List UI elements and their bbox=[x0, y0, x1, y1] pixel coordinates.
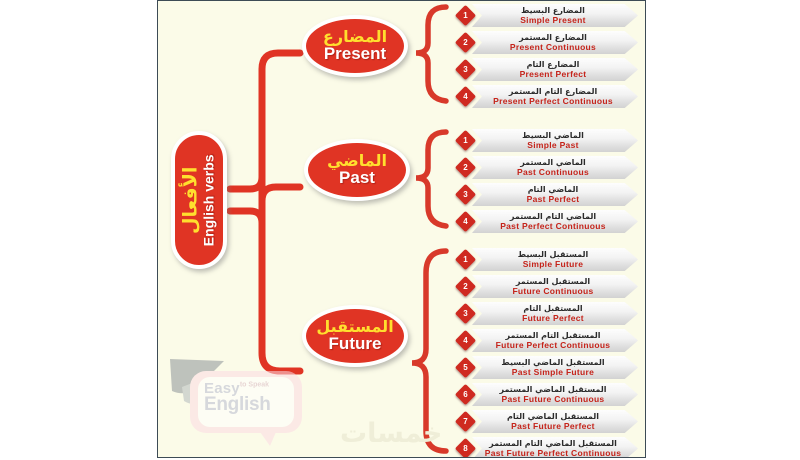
tense-row[interactable]: 7المستقبل الماضي التامPast Future Perfec… bbox=[458, 410, 638, 435]
tense-arabic-label: المستقبل المستمر bbox=[516, 278, 590, 286]
tense-arabic-label: الماضي التام bbox=[528, 186, 579, 194]
watermark-line-1: Easyto Speak bbox=[204, 381, 296, 397]
row-number-label: 3 bbox=[458, 187, 473, 202]
tense-row-labels: المضارع التامPresent Perfect bbox=[474, 59, 632, 81]
tense-row-labels: الماضي التامPast Perfect bbox=[474, 184, 632, 206]
tense-row-labels: المستقبل الماضي التامPast Future Perfect bbox=[474, 411, 632, 433]
tense-arabic-label: المضارع التام المستمر bbox=[509, 88, 597, 96]
tense-english-label: Past Future Perfect Continuous bbox=[485, 449, 622, 458]
tense-row[interactable]: 8المستقبل الماضي التام المستمرPast Futur… bbox=[458, 437, 638, 458]
tense-arabic-label: الماضي البسيط bbox=[522, 132, 584, 140]
row-number-label: 7 bbox=[458, 414, 473, 429]
row-number-badge: 8 bbox=[455, 438, 476, 458]
root-node-english-verbs[interactable]: الأفعال English verbs bbox=[171, 131, 227, 269]
root-node-rotated-text: الأفعال English verbs bbox=[182, 154, 217, 246]
tense-row-labels: الماضي البسيطSimple Past bbox=[474, 130, 632, 152]
tense-arabic-label: الماضي المستمر bbox=[520, 159, 586, 167]
row-number-badge: 3 bbox=[455, 303, 476, 324]
branch-node-past-arabic: الماضي bbox=[327, 153, 387, 169]
tense-row[interactable]: 5المستقبل الماضي البسيطPast Simple Futur… bbox=[458, 356, 638, 381]
tense-row-labels: المضارع البسيطSimple Present bbox=[474, 5, 632, 27]
tense-arabic-label: المستقبل الماضي التام bbox=[507, 413, 599, 421]
branch-node-present-arabic: المضارع bbox=[323, 29, 387, 45]
row-number-badge: 2 bbox=[455, 32, 476, 53]
easy-to-speak-english-watermark: Easyto Speak English bbox=[168, 357, 308, 453]
tense-english-label: Past Continuous bbox=[517, 168, 589, 177]
tense-english-label: Future Continuous bbox=[512, 287, 593, 296]
watermark-english-label: English bbox=[204, 395, 296, 414]
tense-english-label: Past Simple Future bbox=[512, 368, 594, 377]
row-number-label: 4 bbox=[458, 214, 473, 229]
tense-row-labels: المضارع التام المستمرPresent Perfect Con… bbox=[474, 86, 632, 108]
tense-english-label: Simple Future bbox=[523, 260, 584, 269]
branch-node-future-english: Future bbox=[329, 335, 382, 352]
tense-group-past: 1الماضي البسيطSimple Past2الماضي المستمر… bbox=[458, 129, 638, 237]
row-number-badge: 2 bbox=[455, 276, 476, 297]
tense-english-label: Present Perfect bbox=[520, 70, 587, 79]
tense-arabic-label: المضارع البسيط bbox=[521, 7, 585, 15]
row-number-label: 6 bbox=[458, 387, 473, 402]
tense-english-label: Simple Present bbox=[520, 16, 586, 25]
tense-english-label: Future Perfect Continuous bbox=[496, 341, 611, 350]
tense-row[interactable]: 3المضارع التامPresent Perfect bbox=[458, 58, 638, 83]
tense-row-labels: الماضي المستمرPast Continuous bbox=[474, 157, 632, 179]
tense-row[interactable]: 2المضارع المستمرPresent Continuous bbox=[458, 31, 638, 56]
tense-english-label: Past Future Continuous bbox=[502, 395, 605, 404]
tense-row-labels: المستقبل الماضي المستمرPast Future Conti… bbox=[474, 384, 632, 406]
row-number-label: 5 bbox=[458, 360, 473, 375]
tense-row[interactable]: 3المستقبل التامFuture Perfect bbox=[458, 302, 638, 327]
tense-arabic-label: المستقبل الماضي التام المستمر bbox=[489, 440, 617, 448]
swoosh-icon bbox=[168, 357, 244, 409]
row-number-label: 1 bbox=[458, 8, 473, 23]
tense-row[interactable]: 2المستقبل المستمرFuture Continuous bbox=[458, 275, 638, 300]
tense-english-label: Present Continuous bbox=[510, 43, 596, 52]
row-number-label: 4 bbox=[458, 333, 473, 348]
tense-row[interactable]: 6المستقبل الماضي المستمرPast Future Cont… bbox=[458, 383, 638, 408]
row-number-label: 1 bbox=[458, 133, 473, 148]
tense-row-labels: المستقبل الماضي التام المستمرPast Future… bbox=[474, 438, 632, 458]
tense-row-labels: المستقبل التام المستمرFuture Perfect Con… bbox=[474, 330, 632, 352]
tense-english-label: Past Perfect Continuous bbox=[500, 222, 606, 231]
tense-arabic-label: المضارع المستمر bbox=[519, 34, 587, 42]
tense-row[interactable]: 3الماضي التامPast Perfect bbox=[458, 183, 638, 208]
root-node-content: الأفعال English verbs bbox=[175, 135, 223, 265]
row-number-badge: 7 bbox=[455, 411, 476, 432]
tense-row[interactable]: 1المستقبل البسيطSimple Future bbox=[458, 248, 638, 273]
tense-arabic-label: الماضي التام المستمر bbox=[510, 213, 596, 221]
tense-english-label: Past Perfect bbox=[527, 195, 580, 204]
root-node-arabic-label: الأفعال bbox=[182, 154, 202, 246]
row-number-label: 2 bbox=[458, 279, 473, 294]
speech-bubble-shape bbox=[190, 371, 302, 433]
tense-row[interactable]: 4الماضي التام المستمرPast Perfect Contin… bbox=[458, 210, 638, 235]
speech-bubble-inner bbox=[198, 377, 294, 427]
row-number-badge: 1 bbox=[455, 5, 476, 26]
tense-arabic-label: المستقبل الماضي البسيط bbox=[501, 359, 604, 367]
tense-english-label: Simple Past bbox=[527, 141, 579, 150]
tense-arabic-label: المضارع التام bbox=[527, 61, 580, 69]
row-number-label: 3 bbox=[458, 62, 473, 77]
diagram-panel: الأفعال English verbs المضارع Present ال… bbox=[157, 0, 646, 458]
tense-row-labels: المضارع المستمرPresent Continuous bbox=[474, 32, 632, 54]
tense-group-future: 1المستقبل البسيطSimple Future2المستقبل ا… bbox=[458, 248, 638, 458]
row-number-badge: 6 bbox=[455, 384, 476, 405]
branch-node-past[interactable]: الماضي Past bbox=[304, 139, 410, 201]
tense-row-labels: المستقبل المستمرFuture Continuous bbox=[474, 276, 632, 298]
tense-row[interactable]: 1الماضي البسيطSimple Past bbox=[458, 129, 638, 154]
tense-row-labels: المستقبل البسيطSimple Future bbox=[474, 249, 632, 271]
branch-node-present-english: Present bbox=[324, 45, 386, 62]
mindmap-canvas: الأفعال English verbs المضارع Present ال… bbox=[0, 0, 800, 460]
row-number-badge: 3 bbox=[455, 184, 476, 205]
row-number-badge: 5 bbox=[455, 357, 476, 378]
row-number-badge: 4 bbox=[455, 86, 476, 107]
row-number-label: 1 bbox=[458, 252, 473, 267]
branch-node-future-arabic: المستقبل bbox=[316, 319, 393, 335]
tense-arabic-label: المستقبل التام المستمر bbox=[506, 332, 601, 340]
row-number-label: 2 bbox=[458, 35, 473, 50]
tense-row-labels: المستقبل الماضي البسيطPast Simple Future bbox=[474, 357, 632, 379]
row-number-label: 8 bbox=[458, 441, 473, 456]
branch-node-past-english: Past bbox=[339, 169, 375, 186]
tense-row[interactable]: 2الماضي المستمرPast Continuous bbox=[458, 156, 638, 181]
tense-group-present: 1المضارع البسيطSimple Present2المضارع ال… bbox=[458, 4, 638, 112]
tense-arabic-label: المستقبل التام bbox=[523, 305, 582, 313]
watermark-to-speak-label: to Speak bbox=[240, 382, 269, 389]
branch-node-future[interactable]: المستقبل Future bbox=[302, 305, 408, 367]
khamsat-watermark: خمسات bbox=[340, 418, 442, 449]
row-number-badge: 1 bbox=[455, 249, 476, 270]
row-number-badge: 2 bbox=[455, 157, 476, 178]
root-node-english-label: English verbs bbox=[202, 154, 217, 246]
row-number-label: 3 bbox=[458, 306, 473, 321]
row-number-badge: 4 bbox=[455, 330, 476, 351]
tense-row-labels: الماضي التام المستمرPast Perfect Continu… bbox=[474, 211, 632, 233]
watermark-text-block: Easyto Speak English bbox=[204, 381, 296, 414]
row-number-label: 2 bbox=[458, 160, 473, 175]
tense-row[interactable]: 4المضارع التام المستمرPresent Perfect Co… bbox=[458, 85, 638, 110]
tense-row[interactable]: 1المضارع البسيطSimple Present bbox=[458, 4, 638, 29]
row-number-badge: 3 bbox=[455, 59, 476, 80]
tense-english-label: Future Perfect bbox=[522, 314, 584, 323]
tense-arabic-label: المستقبل البسيط bbox=[518, 251, 588, 259]
tense-row[interactable]: 4المستقبل التام المستمرFuture Perfect Co… bbox=[458, 329, 638, 354]
row-number-label: 4 bbox=[458, 89, 473, 104]
row-number-badge: 1 bbox=[455, 130, 476, 151]
tense-arabic-label: المستقبل الماضي المستمر bbox=[499, 386, 606, 394]
tense-english-label: Past Future Perfect bbox=[511, 422, 595, 431]
watermark-easy-label: Easy bbox=[204, 380, 240, 397]
tense-english-label: Present Perfect Continuous bbox=[493, 97, 613, 106]
tense-row-labels: المستقبل التامFuture Perfect bbox=[474, 303, 632, 325]
branch-node-present[interactable]: المضارع Present bbox=[302, 15, 408, 77]
row-number-badge: 4 bbox=[455, 211, 476, 232]
